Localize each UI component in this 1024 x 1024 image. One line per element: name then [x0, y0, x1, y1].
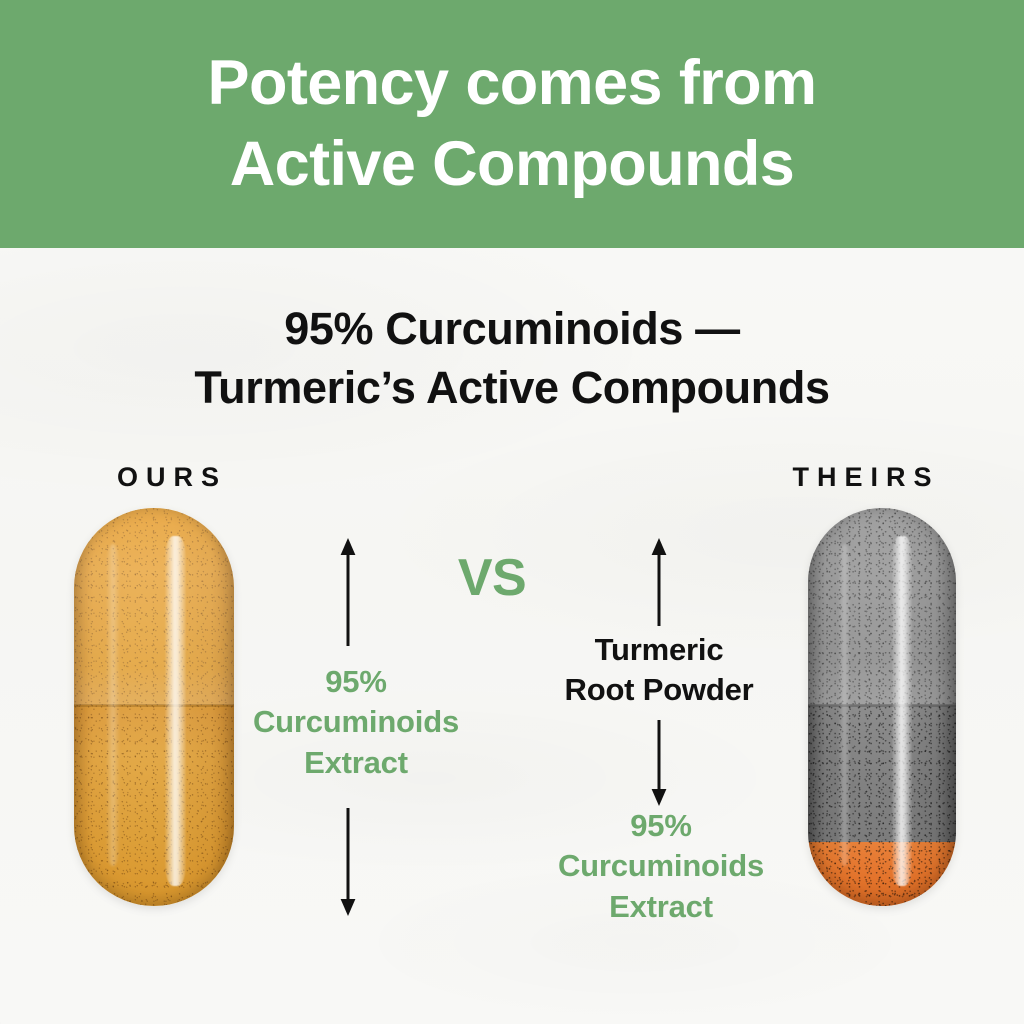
column-label-ours: OURS: [52, 462, 292, 493]
arrow-down-icon: [326, 806, 370, 918]
theirs-callout-label-top: Turmeric Root Powder: [516, 630, 802, 709]
capsule-soft-highlight: [106, 544, 120, 866]
capsule-powder-speckle: [808, 508, 956, 906]
capsule-seam: [808, 704, 956, 707]
theirs-callout-label-bottom: 95% Curcuminoids Extract: [520, 806, 802, 927]
capsule-seam: [74, 704, 234, 707]
page-title: Potency comes from Active Compounds: [168, 43, 857, 204]
header-band: Potency comes from Active Compounds: [0, 0, 1024, 248]
ours-callout-label: 95% Curcuminoids Extract: [222, 662, 490, 783]
arrow-up-icon: [326, 536, 370, 648]
column-label-theirs: THEIRS: [736, 462, 996, 493]
capsule-gloss-highlight: [892, 536, 911, 886]
arrow-down-icon: [637, 718, 681, 808]
capsule-powder-speckle: [74, 508, 234, 906]
orange-turmeric-capsule: [74, 508, 234, 906]
arrow-up-icon: [637, 536, 681, 628]
grey-turmeric-root-capsule: [808, 508, 956, 906]
capsule-gloss-highlight: [165, 536, 186, 886]
capsule-soft-highlight: [838, 544, 851, 866]
subheading: 95% Curcuminoids — Turmeric’s Active Com…: [0, 300, 1024, 417]
vs-label: VS: [432, 548, 552, 608]
infographic-canvas: Potency comes from Active Compounds 95% …: [0, 0, 1024, 1024]
